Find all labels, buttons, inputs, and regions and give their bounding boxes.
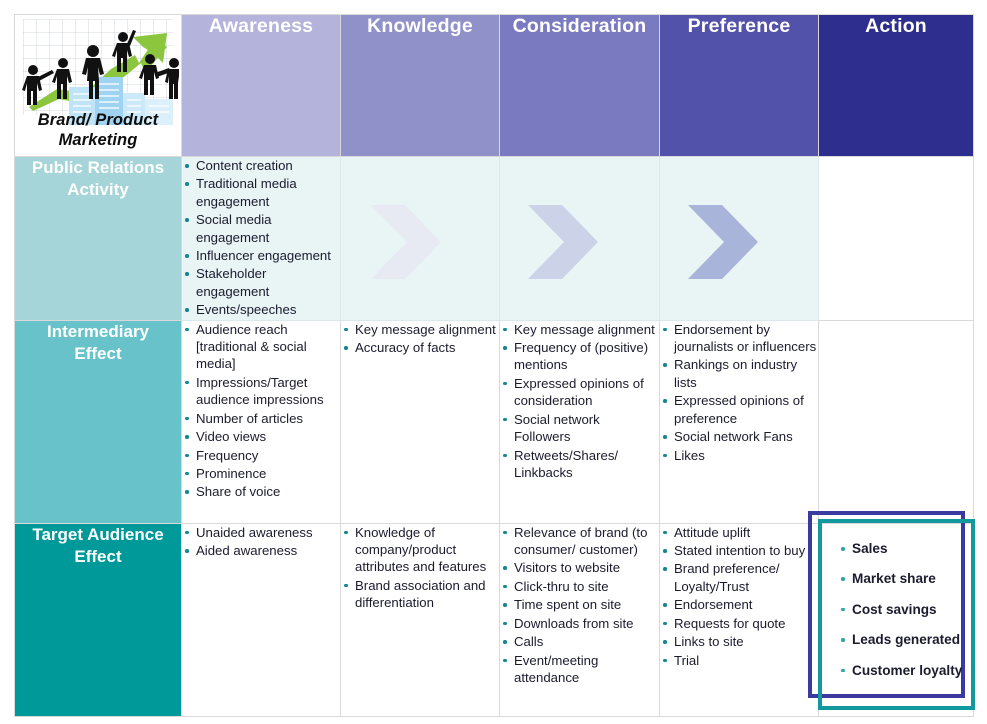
row-label-target-line2: Effect: [15, 546, 181, 568]
bullet-list: Sales Market share Cost savings Leads ge…: [838, 540, 978, 679]
row-label-public-relations-activity: Public Relations Activity: [15, 157, 182, 321]
brand-logo-caption-line2: Marketing: [15, 130, 181, 150]
business-people-silhouettes: [19, 25, 179, 121]
row-label-intermediary-line2: Effect: [15, 343, 181, 365]
list-item: Time spent on site: [500, 596, 659, 613]
list-item: Downloads from site: [500, 615, 659, 632]
row-target-audience-effect: Target Audience Effect Unaided awareness…: [15, 523, 974, 716]
list-item: Expressed opinions of consideration: [500, 375, 659, 410]
bullet-list: Relevance of brand (to consumer/ custome…: [500, 524, 659, 687]
bullet-list: Knowledge of company/product attributes …: [341, 524, 499, 612]
row-label-pr-line2: Activity: [15, 179, 181, 201]
chevron-arrow-3-icon: [688, 205, 758, 279]
chevron-arrow-1-icon: [371, 205, 441, 279]
list-item: Aided awareness: [182, 542, 340, 559]
list-item: Trial: [660, 652, 818, 669]
bullet-list: Key message alignment Frequency of (posi…: [500, 321, 659, 482]
list-item: Brand preference/ Loyalty/Trust: [660, 560, 818, 595]
cell-pr-consideration: [500, 157, 660, 321]
list-item: Relevance of brand (to consumer/ custome…: [500, 524, 659, 559]
stage-header-consideration[interactable]: Consideration: [500, 15, 660, 157]
marketing-funnel-matrix: Brand/ Product Marketing Awareness Knowl…: [14, 14, 974, 717]
stage-header-awareness[interactable]: Awareness: [182, 15, 341, 157]
funnel-matrix-canvas: Brand/ Product Marketing Awareness Knowl…: [0, 0, 987, 724]
row-label-target-line1: Target Audience: [15, 524, 181, 546]
list-item: Brand association and differentiation: [341, 577, 499, 612]
row-label-intermediary-effect: Intermediary Effect: [15, 320, 182, 523]
row-label-intermediary-line1: Intermediary: [15, 321, 181, 343]
list-item: Links to site: [660, 633, 818, 650]
list-item: Market share: [838, 570, 978, 587]
list-item: Social network Fans: [660, 428, 818, 445]
bullet-list: Content creation Traditional media engag…: [182, 157, 340, 319]
cell-intermediary-knowledge: Key message alignment Accuracy of facts: [341, 320, 500, 523]
list-item: Frequency of (positive) mentions: [500, 339, 659, 374]
header-row: Brand/ Product Marketing Awareness Knowl…: [15, 15, 974, 157]
brand-logo-illustration: Brand/ Product Marketing: [15, 15, 181, 156]
list-item: Customer loyalty: [838, 662, 978, 679]
list-item: Key message alignment: [500, 321, 659, 338]
stage-header-action[interactable]: Action: [819, 15, 974, 157]
list-item: Social media engagement: [182, 211, 340, 246]
bullet-list: Attitude uplift Stated intention to buy …: [660, 524, 818, 669]
bullet-list: Endorsement by journalists or influencer…: [660, 321, 818, 464]
cell-target-consideration: Relevance of brand (to consumer/ custome…: [500, 523, 660, 716]
row-label-pr-line1: Public Relations: [15, 157, 181, 179]
cell-pr-action: [819, 157, 974, 321]
cell-intermediary-consideration: Key message alignment Frequency of (posi…: [500, 320, 660, 523]
list-item: Prominence: [182, 465, 340, 482]
action-outcomes-list: Sales Market share Cost savings Leads ge…: [838, 540, 978, 692]
cell-pr-knowledge: [341, 157, 500, 321]
list-item: Knowledge of company/product attributes …: [341, 524, 499, 576]
bullet-list: Unaided awareness Aided awareness: [182, 524, 340, 560]
list-item: Calls: [500, 633, 659, 650]
list-item: Attitude uplift: [660, 524, 818, 541]
list-item: Sales: [838, 540, 978, 557]
list-item: Social network Followers: [500, 411, 659, 446]
list-item: Key message alignment: [341, 321, 499, 338]
list-item: Content creation: [182, 157, 340, 174]
list-item: Traditional media engagement: [182, 175, 340, 210]
list-item: Leads generated: [838, 631, 978, 648]
brand-logo-caption: Brand/ Product Marketing: [15, 110, 181, 150]
list-item: Stakeholder engagement: [182, 265, 340, 300]
list-item: Endorsement by journalists or influencer…: [660, 321, 818, 356]
stage-header-preference[interactable]: Preference: [660, 15, 819, 157]
list-item: Frequency: [182, 447, 340, 464]
cell-intermediary-action: [819, 320, 974, 523]
cell-intermediary-preference: Endorsement by journalists or influencer…: [660, 320, 819, 523]
list-item: Event/meeting attendance: [500, 652, 659, 687]
cell-pr-preference: [660, 157, 819, 321]
list-item: Endorsement: [660, 596, 818, 613]
cell-intermediary-awareness: Audience reach [traditional & social med…: [182, 320, 341, 523]
list-item: Impressions/Target audience impressions: [182, 374, 340, 409]
cell-target-knowledge: Knowledge of company/product attributes …: [341, 523, 500, 716]
row-public-relations-activity: Public Relations Activity Content creati…: [15, 157, 974, 321]
list-item: Cost savings: [838, 601, 978, 618]
list-item: Audience reach [traditional & social med…: [182, 321, 340, 373]
list-item: Stated intention to buy: [660, 542, 818, 559]
list-item: Rankings on industry lists: [660, 356, 818, 391]
bullet-list: Key message alignment Accuracy of facts: [341, 321, 499, 357]
list-item: Accuracy of facts: [341, 339, 499, 356]
list-item: Visitors to website: [500, 559, 659, 576]
list-item: Likes: [660, 447, 818, 464]
list-item: Click-thru to site: [500, 578, 659, 595]
list-item: Number of articles: [182, 410, 340, 427]
brand-logo-cell: Brand/ Product Marketing: [15, 15, 182, 157]
stage-header-knowledge[interactable]: Knowledge: [341, 15, 500, 157]
list-item: Requests for quote: [660, 615, 818, 632]
list-item: Video views: [182, 428, 340, 445]
list-item: Share of voice: [182, 483, 340, 500]
list-item: Retweets/Shares/ Linkbacks: [500, 447, 659, 482]
brand-logo-caption-line1: Brand/ Product: [15, 110, 181, 130]
chevron-arrow-2-icon: [528, 205, 598, 279]
cell-pr-awareness: Content creation Traditional media engag…: [182, 157, 341, 321]
row-label-target-audience-effect: Target Audience Effect: [15, 523, 182, 716]
row-intermediary-effect: Intermediary Effect Audience reach [trad…: [15, 320, 974, 523]
list-item: Unaided awareness: [182, 524, 340, 541]
list-item: Expressed opinions of preference: [660, 392, 818, 427]
list-item: Influencer engagement: [182, 247, 340, 264]
bullet-list: Audience reach [traditional & social med…: [182, 321, 340, 501]
cell-target-preference: Attitude uplift Stated intention to buy …: [660, 523, 819, 716]
cell-target-awareness: Unaided awareness Aided awareness: [182, 523, 341, 716]
list-item: Events/speeches: [182, 301, 340, 318]
